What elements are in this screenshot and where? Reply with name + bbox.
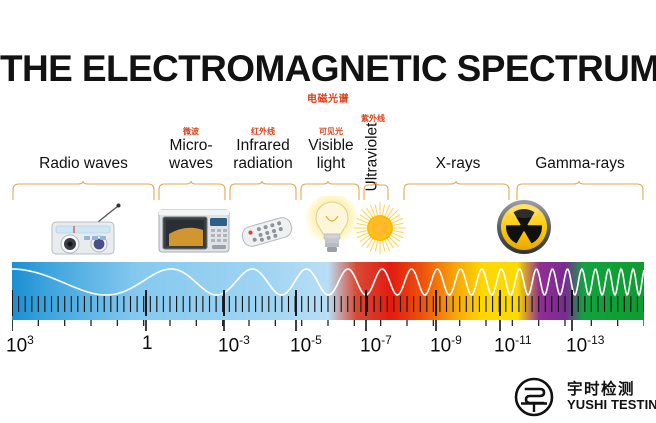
radio-icon bbox=[48, 200, 124, 256]
page-title: THE ELECTROMAGNETIC SPECTRUM bbox=[0, 48, 656, 90]
electromagnetic-spectrum-infographic: THE ELECTROMAGNETIC SPECTRUM 电磁光谱 Radio … bbox=[0, 0, 656, 423]
category-en-infrared: Infrared radiation bbox=[227, 137, 299, 173]
category-cn-visible: 可见光 bbox=[300, 126, 362, 137]
microwave-icon bbox=[157, 204, 231, 256]
spectrum-ruler-ticks bbox=[12, 290, 644, 320]
category-label-visible: 可见光 Visible light bbox=[300, 126, 362, 173]
scale-axis-ticks bbox=[12, 320, 644, 334]
remote-icon bbox=[238, 214, 296, 250]
category-label-microwaves: 微波 Micro- waves bbox=[156, 126, 226, 173]
logo-text-chinese: 宇时检测 bbox=[567, 377, 635, 399]
scale-tick-label: 10-11 bbox=[494, 333, 532, 357]
spectrum-bar bbox=[12, 262, 644, 320]
category-cn-microwaves: 微波 bbox=[156, 126, 226, 137]
category-en-gammarays: Gamma-rays bbox=[516, 155, 644, 173]
yushi-monogram-icon bbox=[513, 377, 559, 417]
scale-tick-label: 10-7 bbox=[360, 333, 392, 357]
category-en-xrays: X-rays bbox=[403, 155, 513, 173]
brand-logo: 宇时检测 YUSHI TESTING bbox=[513, 375, 649, 419]
category-en-visible: Visible light bbox=[300, 137, 362, 173]
page-subtitle-chinese: 电磁光谱 bbox=[0, 90, 656, 105]
category-cn-infrared: 红外线 bbox=[227, 126, 299, 137]
logo-text-english: YUSHI TESTING bbox=[567, 397, 656, 412]
scale-tick-label: 10-3 bbox=[218, 333, 250, 357]
category-label-xrays: X-rays bbox=[403, 155, 513, 173]
scale-tick-label: 103 bbox=[6, 333, 34, 357]
wavelength-scale: 103110-310-510-710-910-1110-13 bbox=[0, 333, 656, 361]
category-icons bbox=[0, 196, 656, 258]
category-en-radio: Radio waves bbox=[12, 155, 155, 173]
category-en-microwaves: Micro- waves bbox=[156, 137, 226, 173]
scale-tick-label: 10-5 bbox=[290, 333, 322, 357]
scale-tick-label: 10-13 bbox=[566, 333, 604, 357]
radioactive-icon bbox=[495, 198, 553, 256]
category-label-radio: Radio waves bbox=[12, 155, 155, 173]
category-label-infrared: 红外线 Infrared radiation bbox=[227, 126, 299, 173]
category-label-gammarays: Gamma-rays bbox=[516, 155, 644, 173]
scale-tick-label: 10-9 bbox=[430, 333, 462, 357]
sun-icon bbox=[352, 200, 408, 256]
scale-tick-label: 1 bbox=[142, 333, 153, 355]
